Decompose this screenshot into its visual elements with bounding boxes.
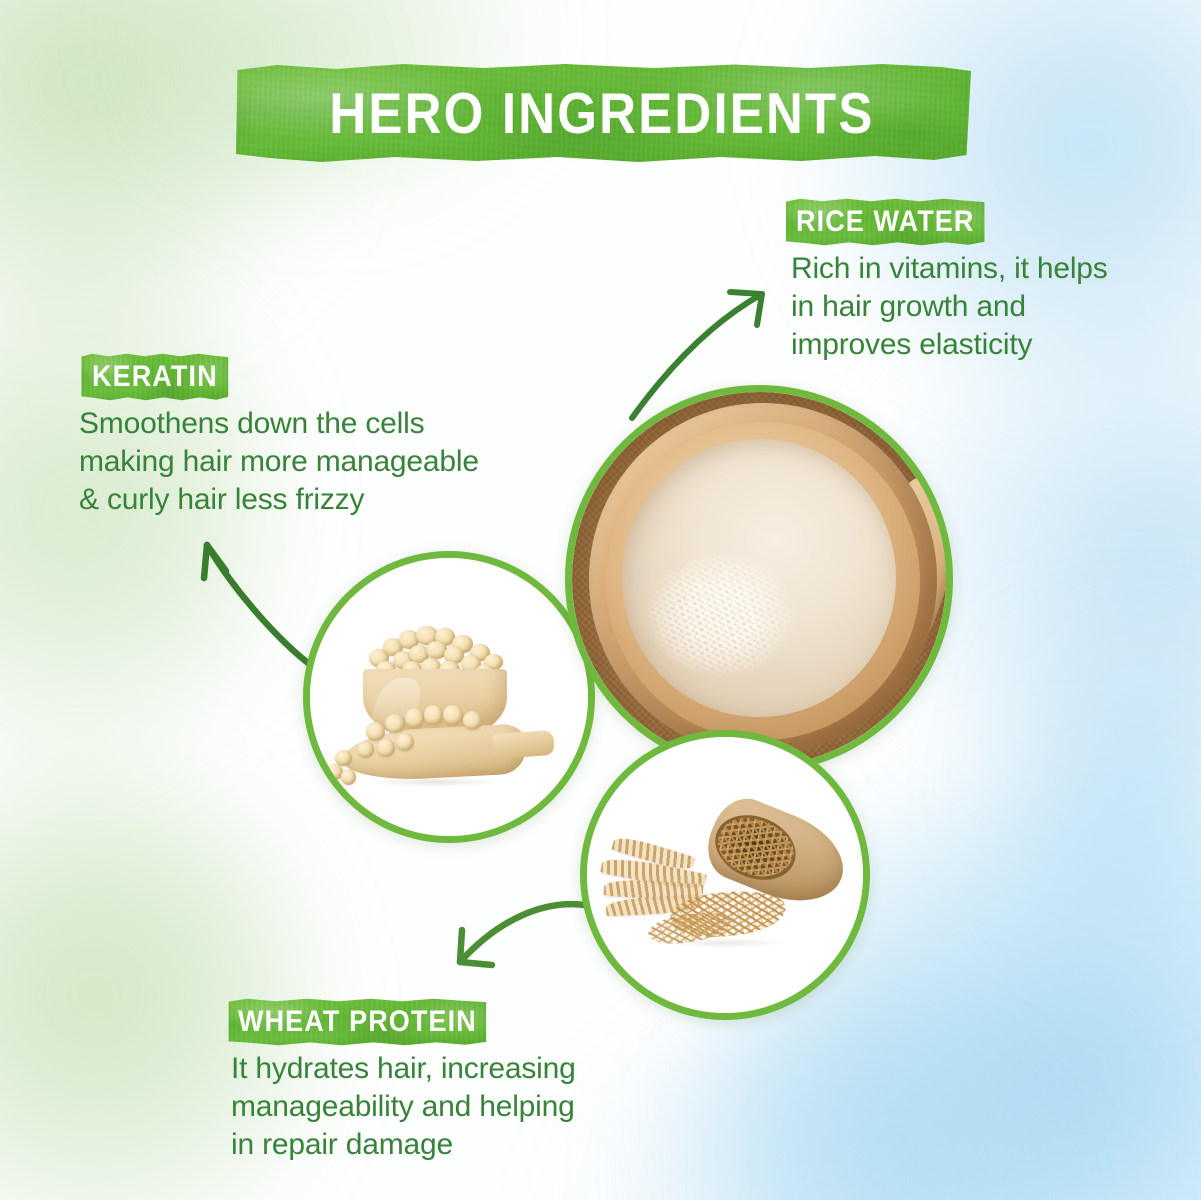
rice-water-liquid: [622, 439, 895, 718]
description-wheat-protein: It hydrates hair, increasing manageabili…: [231, 1050, 651, 1164]
page-title: HERO INGREDIENTS: [233, 57, 971, 169]
photo-soybeans-in-wooden-bowl-with-scoop: [310, 558, 588, 836]
label-chip-keratin: KERATIN: [80, 353, 230, 401]
blue-wash-right-edge: [1001, 560, 1201, 1020]
rice-grains: [647, 545, 800, 684]
photo-circle-rice-water: [565, 385, 953, 773]
photo-wheat-grains-in-wooden-scoop-with-wheat-stalks: [587, 737, 863, 1013]
hero-ingredients-infographic: HERO INGREDIENTS RICE WATER Rich in vita…: [0, 0, 1201, 1200]
arrow-to-keratin: [204, 545, 308, 663]
description-keratin: Smoothens down the cells making hair mor…: [79, 405, 559, 519]
label-chip-wheat-protein: WHEAT PROTEIN: [226, 998, 489, 1046]
label-chip-rice-water: RICE WATER: [784, 198, 987, 246]
description-rice-water: Rich in vitamins, it helps in hair growt…: [791, 250, 1181, 364]
photo-circle-keratin: [303, 551, 595, 843]
photo-circle-wheat-protein: [580, 730, 870, 1020]
photo-wooden-bowl-of-rice-water-with-rice-grains: [572, 392, 946, 766]
wooden-scoop-handle: [493, 730, 556, 759]
page-title-banner: HERO INGREDIENTS: [233, 63, 971, 163]
arrow-to-wheat-protein: [460, 904, 585, 965]
